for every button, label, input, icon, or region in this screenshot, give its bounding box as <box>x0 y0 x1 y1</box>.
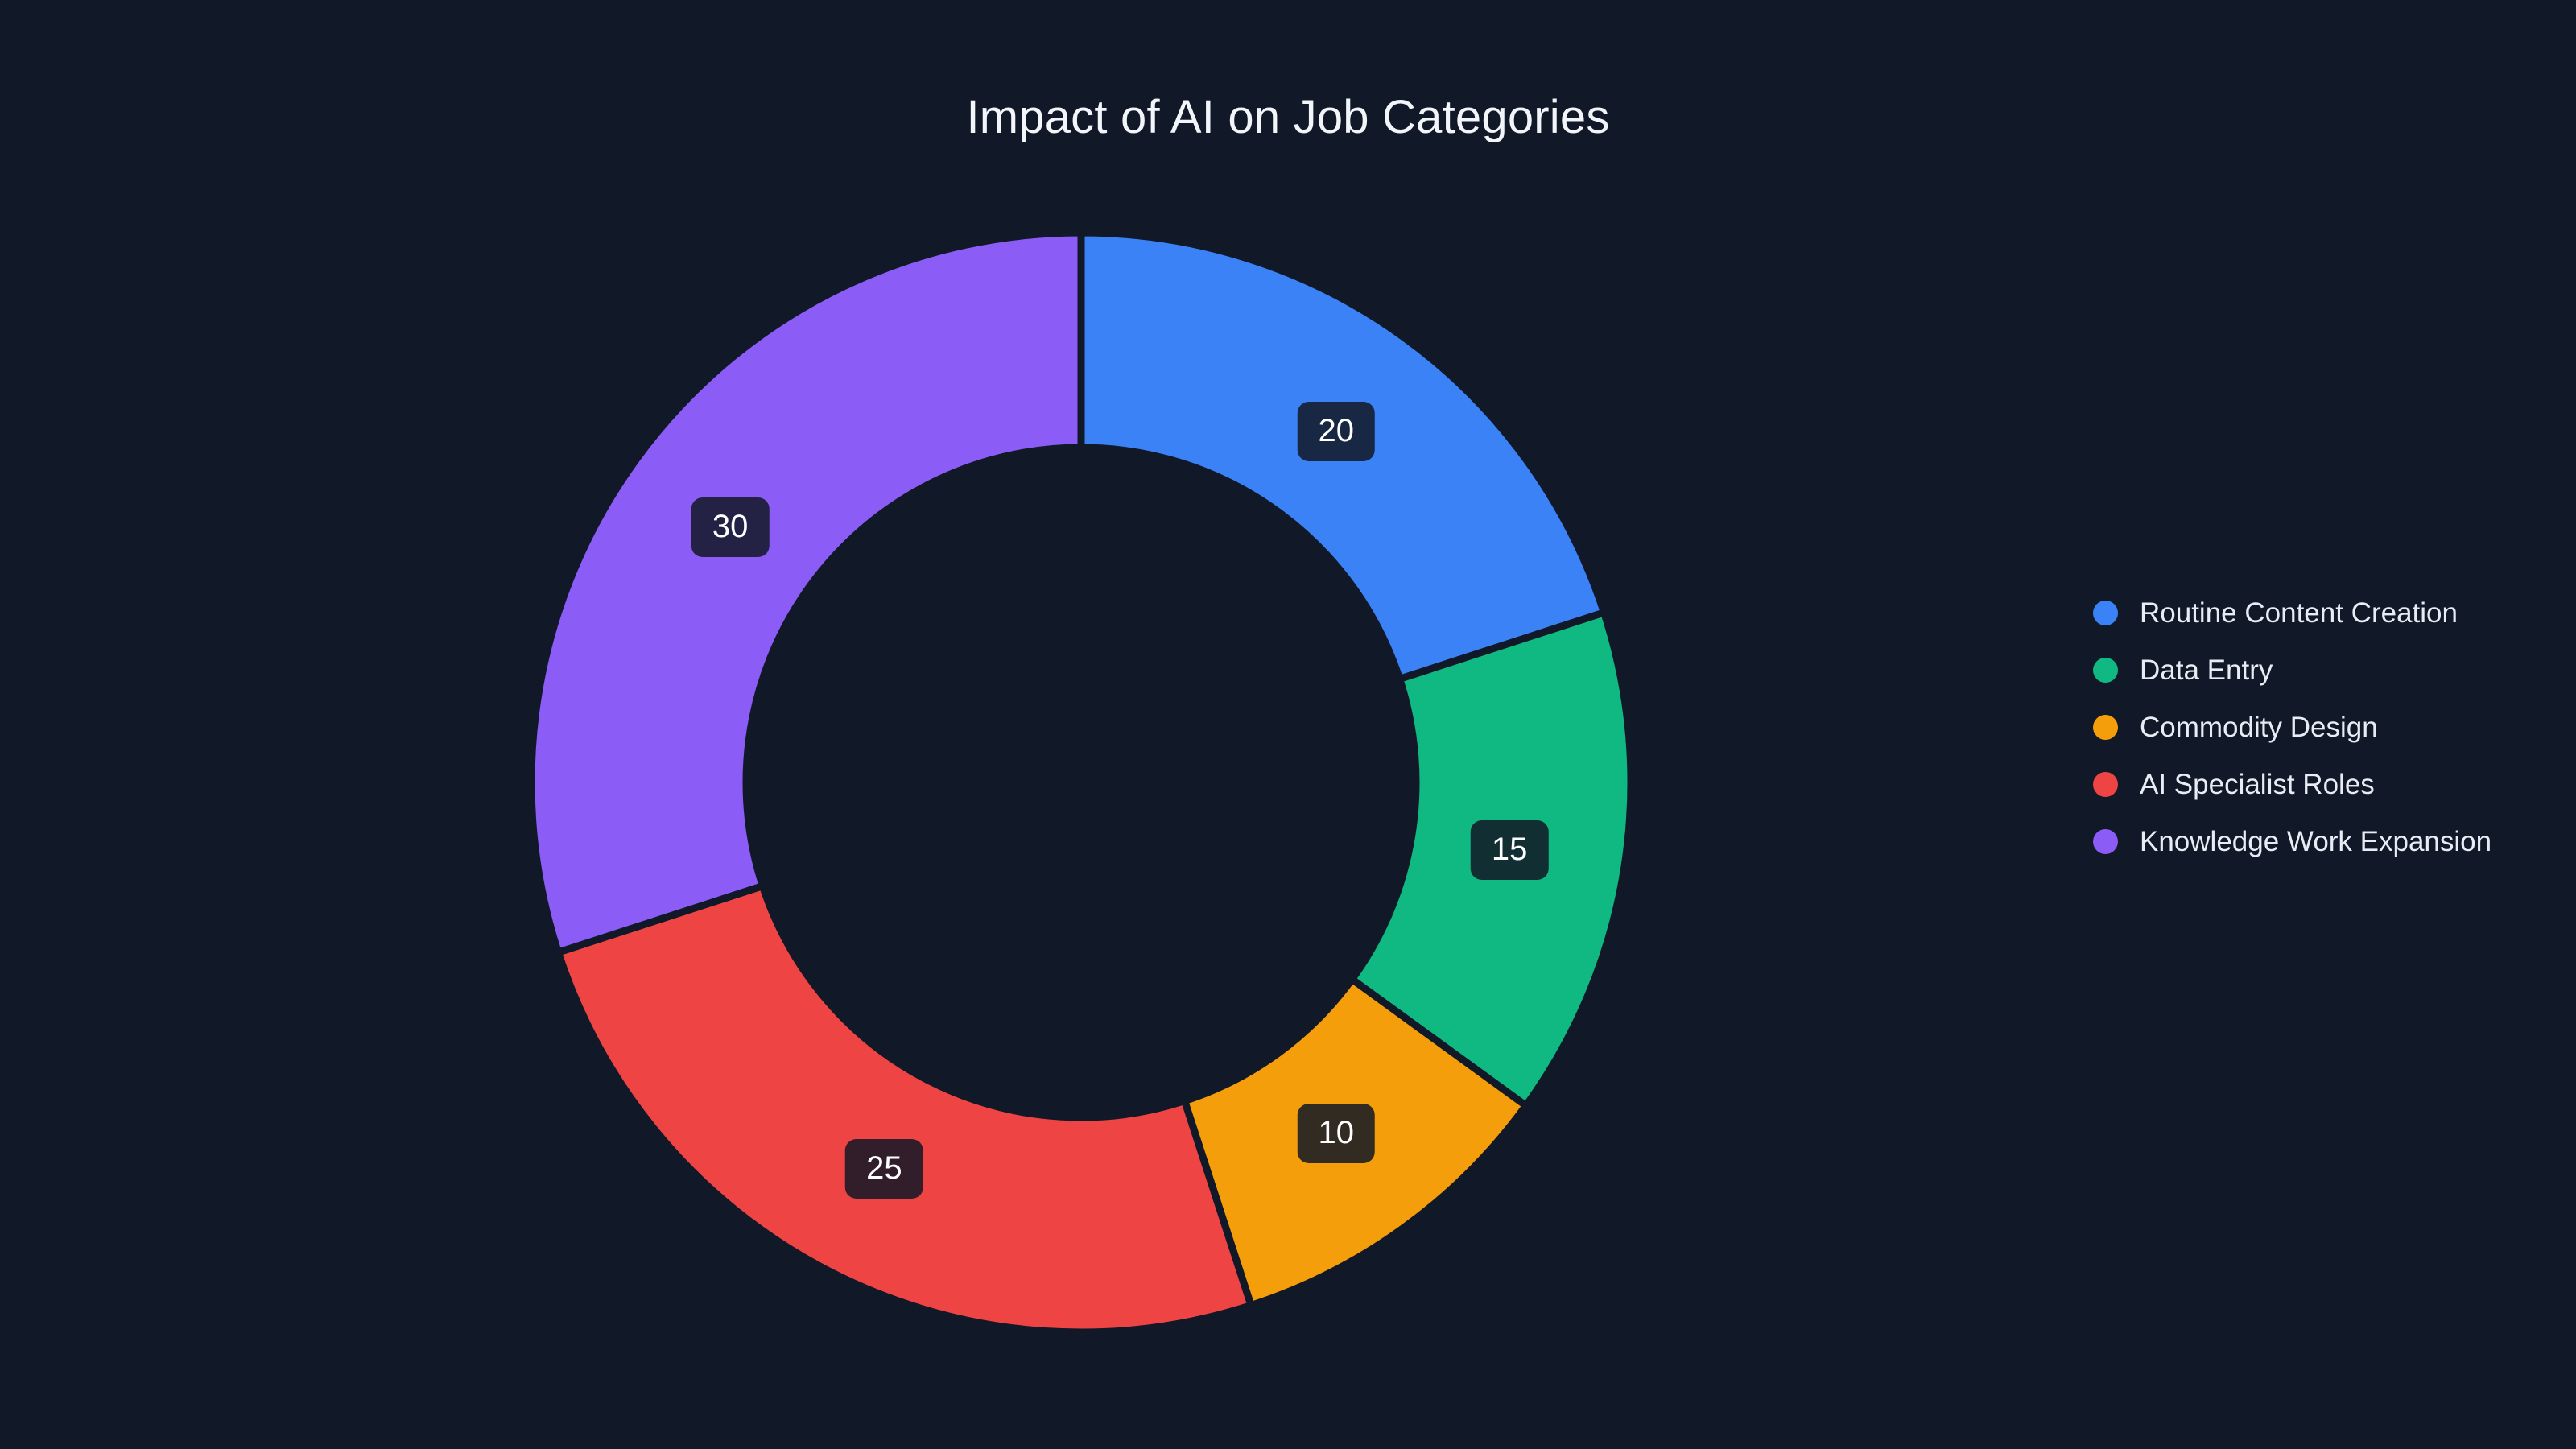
donut-chart-svg <box>0 0 2061 1449</box>
legend-swatch-icon <box>2093 772 2118 797</box>
chart-canvas: Impact of AI on Job Categories 201510253… <box>0 0 2576 1449</box>
legend-item-label: Commodity Design <box>2140 713 2378 741</box>
donut-slices-group <box>531 233 1631 1332</box>
legend-item-label: Knowledge Work Expansion <box>2140 828 2491 856</box>
legend-item[interactable]: Knowledge Work Expansion <box>2093 813 2528 870</box>
legend-item-label: AI Specialist Roles <box>2140 770 2375 799</box>
legend-item-label: Routine Content Creation <box>2140 599 2458 627</box>
legend-item[interactable]: Data Entry <box>2093 642 2528 699</box>
legend-item[interactable]: Routine Content Creation <box>2093 584 2528 642</box>
legend-swatch-icon <box>2093 658 2118 683</box>
donut-slice[interactable] <box>1081 233 1604 679</box>
legend-item-label: Data Entry <box>2140 656 2273 684</box>
legend-swatch-icon <box>2093 715 2118 740</box>
legend-swatch-icon <box>2093 829 2118 854</box>
legend-item[interactable]: Commodity Design <box>2093 699 2528 756</box>
donut-slice[interactable] <box>531 233 1081 952</box>
donut-chart-plot-area: 2015102530 <box>0 0 2061 1449</box>
legend-item[interactable]: AI Specialist Roles <box>2093 756 2528 813</box>
chart-legend: Routine Content CreationData EntryCommod… <box>2093 584 2528 870</box>
legend-swatch-icon <box>2093 601 2118 625</box>
donut-slice[interactable] <box>558 886 1251 1332</box>
